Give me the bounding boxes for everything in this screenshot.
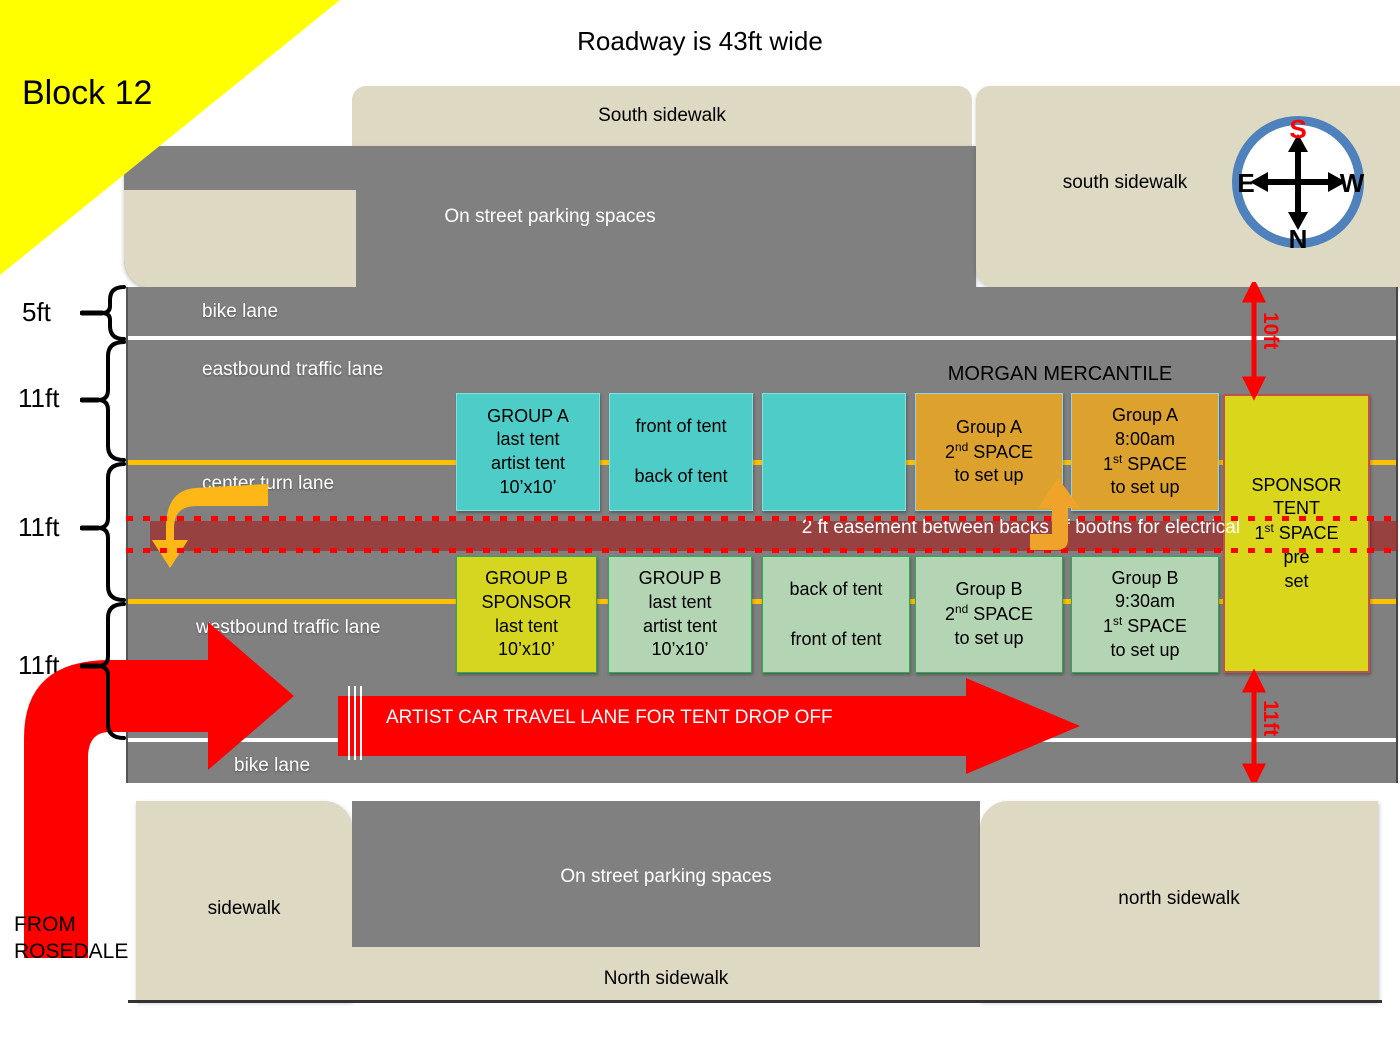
top-parking-label: On street parking spaces	[124, 206, 976, 228]
tent-group-b-2nd-space[interactable]: Group B 2nd SPACE to set up	[915, 556, 1063, 673]
lane-label-bike-top: bike lane	[202, 301, 278, 323]
tent-group-b-sponsor[interactable]: GROUP B SPONSOR last tent 10’x10’	[456, 556, 597, 673]
tent-line: to set up	[954, 627, 1023, 651]
tent-line: 8:00am	[1115, 428, 1175, 452]
lane-label-eastbound: eastbound traffic lane	[202, 359, 383, 381]
tent-line: 10’x10’	[499, 476, 556, 500]
bottom-parking-label: On street parking spaces	[352, 866, 980, 888]
tent-line: front of tent	[790, 628, 881, 652]
dim-label-11ft-eastbound: 11ft	[18, 383, 59, 414]
south-sidewalk-label: South sidewalk	[352, 105, 972, 127]
tent-line: Group B	[1111, 567, 1178, 591]
tent-line: Group A	[956, 416, 1022, 440]
tent-line: to set up	[1110, 476, 1179, 500]
tent-line: artist tent	[491, 452, 565, 476]
tent-line: back of tent	[789, 578, 882, 602]
tent-line: SPONSOR	[481, 591, 571, 615]
artist-arrow-tick-marks-icon	[346, 686, 362, 760]
tent-line: GROUP B	[485, 567, 568, 591]
tent-line: 10’x10’	[651, 638, 708, 662]
right-dimension-arrows	[1230, 282, 1310, 782]
diagram-canvas: Roadway is 43ft wide South sidewalk On s…	[0, 0, 1400, 1050]
rosedale-line-1: FROM	[14, 912, 128, 939]
tent-line: back of tent	[634, 465, 727, 489]
tent-line: Group A	[1112, 404, 1178, 428]
tent-line: 1st SPACE	[1103, 614, 1187, 639]
dim-label-11ft-center: 11ft	[18, 512, 59, 543]
tent-line: 10’x10’	[498, 638, 555, 662]
tent-line: last tent	[648, 591, 711, 615]
tent-group-b-1st-space[interactable]: Group B 9:30am 1st SPACE to set up	[1071, 556, 1219, 673]
dim-label-5ft: 5ft	[22, 297, 51, 328]
tent-group-a-1st-space[interactable]: Group A 8:00am 1st SPACE to set up	[1071, 393, 1219, 511]
tent-group-a-last[interactable]: GROUP A last tent artist tent 10’x10’	[456, 393, 600, 511]
block-label: Block 12	[22, 74, 152, 113]
bottom-sidewalk-right-label: north sidewalk	[980, 888, 1378, 910]
tent-back-front-b[interactable]: back of tent front of tent	[762, 556, 910, 673]
top-parking-left-sidewalk-pad	[124, 190, 356, 288]
tent-line: to set up	[1110, 639, 1179, 663]
compass-east-label: E	[1237, 168, 1254, 198]
tent-line: 2nd SPACE	[945, 440, 1033, 465]
bottom-divider-rule	[128, 1000, 1382, 1003]
tent-front-back-a[interactable]: front of tent back of tent	[609, 393, 753, 511]
compass-rose: S N E W	[1224, 108, 1372, 256]
tent-line: artist tent	[643, 615, 717, 639]
compass-north-label: N	[1289, 224, 1308, 254]
set-up-direction-arrow-icon	[1030, 478, 1086, 558]
tent-line: Group B	[955, 578, 1022, 602]
lane-divider-line-top	[128, 336, 1396, 340]
tent-line: last tent	[496, 428, 559, 452]
artist-arrow-label: ARTIST CAR TRAVEL LANE FOR TENT DROP OFF	[386, 707, 833, 729]
easement-dotted-line-bottom	[126, 548, 1398, 553]
tent-line: 2nd SPACE	[945, 602, 1033, 627]
tent-line: last tent	[495, 615, 558, 639]
from-rosedale-arrow	[0, 608, 304, 958]
morgan-mercantile-label: MORGAN MERCANTILE	[900, 363, 1220, 386]
tent-line: 1st SPACE	[1103, 452, 1187, 477]
from-rosedale-label: FROM ROSEDALE	[14, 912, 128, 966]
north-sidewalk-label: North sidewalk	[352, 968, 980, 990]
tent-line: GROUP B	[639, 567, 722, 591]
rosedale-line-2: ROSEDALE	[14, 939, 128, 966]
tent-line: front of tent	[635, 415, 726, 439]
easement-dotted-line-top	[126, 516, 1398, 521]
tent-group-b-last[interactable]: GROUP B last tent artist tent 10’x10’	[608, 556, 752, 673]
compass-south-label: S	[1289, 114, 1306, 144]
tent-line: GROUP A	[487, 405, 569, 429]
south-sidewalk-right-label: south sidewalk	[1000, 172, 1250, 194]
tent-blank-a[interactable]	[762, 393, 906, 511]
tent-line: 9:30am	[1115, 590, 1175, 614]
left-dimension-braces	[80, 282, 128, 782]
compass-west-label: W	[1340, 168, 1365, 198]
tent-line: to set up	[954, 464, 1023, 488]
